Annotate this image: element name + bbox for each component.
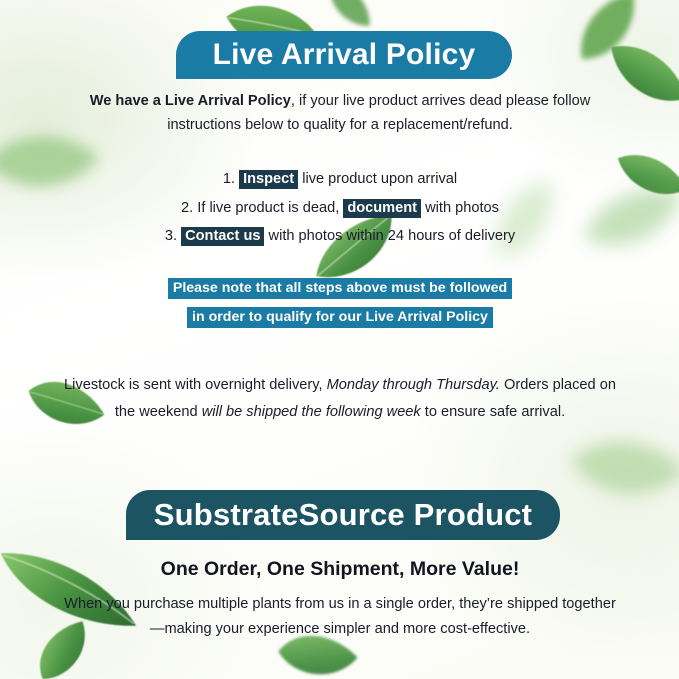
step-after-text: live product upon arrival — [302, 171, 457, 187]
substrate-source-tagline: One Order, One Shipment, More Value! — [60, 558, 620, 581]
shipping-line2-italic: will be shipped the following week — [202, 404, 421, 420]
step-number: 2. — [181, 200, 193, 216]
intro-paragraph: We have a Live Arrival Policy, if your l… — [60, 90, 620, 137]
step-highlight: document — [343, 199, 421, 218]
live-arrival-policy-banner: Live Arrival Policy — [176, 31, 512, 79]
substrate-source-body: When you purchase multiple plants from u… — [60, 592, 620, 643]
shipping-line1-italic: Monday through Thursday. — [327, 377, 500, 393]
step-after-text: with photos within 24 hours of delivery — [269, 228, 516, 244]
infographic-page: Live Arrival Policy We have a Live Arriv… — [0, 0, 679, 679]
policy-note-line-1: Please note that all steps above must be… — [168, 278, 512, 299]
intro-bold-text: We have a Live Arrival Policy — [90, 93, 291, 109]
step-highlight: Contact us — [181, 227, 264, 246]
live-arrival-policy-title: Live Arrival Policy — [213, 38, 476, 72]
shipping-paragraph: Livestock is sent with overnight deliver… — [60, 372, 620, 425]
content-layer: Live Arrival Policy We have a Live Arriv… — [0, 0, 679, 679]
policy-note-line-2: in order to qualify for our Live Arrival… — [187, 307, 493, 328]
list-item: 3. Contact us with photos within 24 hour… — [60, 222, 620, 251]
substrate-source-banner: SubstrateSource Product — [126, 490, 560, 540]
list-item: 1. Inspect live product upon arrival — [60, 165, 620, 194]
shipping-line1-plain: Livestock is sent with overnight deliver… — [64, 377, 327, 393]
shipping-line3-plain: to ensure safe arrival. — [425, 404, 565, 420]
step-number: 3. — [165, 228, 177, 244]
policy-note: Please note that all steps above must be… — [60, 274, 620, 331]
step-after-text: with photos — [425, 200, 499, 216]
policy-note-line: Please note that all steps above must be… — [60, 274, 620, 303]
step-before-text: If live product is dead, — [197, 200, 339, 216]
step-highlight: Inspect — [239, 170, 298, 189]
steps-list: 1. Inspect live product upon arrival 2. … — [60, 165, 620, 251]
policy-note-line: in order to qualify for our Live Arrival… — [60, 303, 620, 332]
step-number: 1. — [223, 171, 235, 187]
list-item: 2. If live product is dead, document wit… — [60, 194, 620, 223]
substrate-source-title: SubstrateSource Product — [154, 497, 532, 533]
